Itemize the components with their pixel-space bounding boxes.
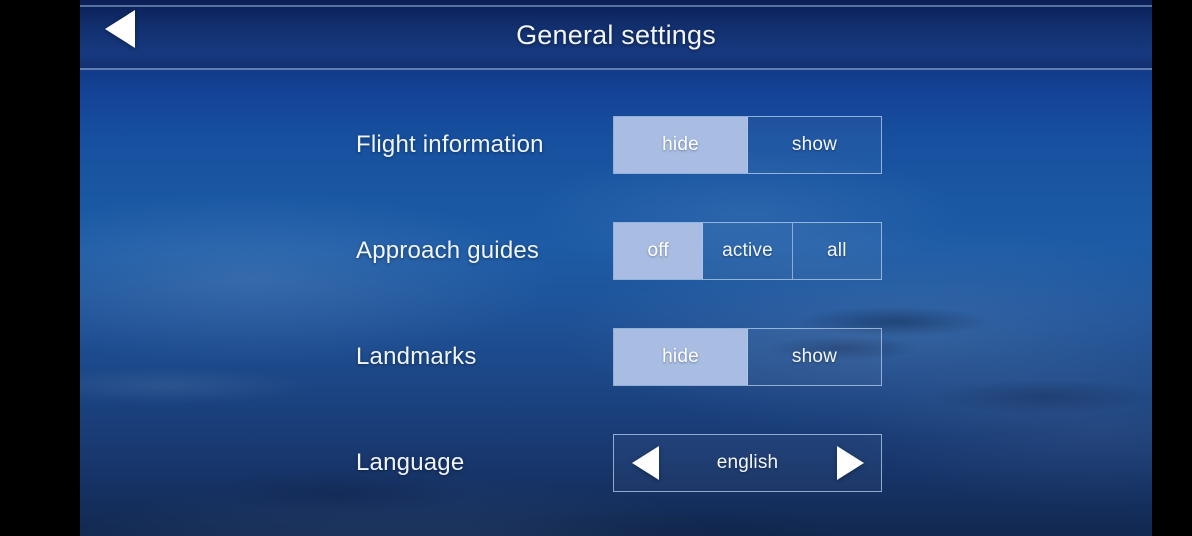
segment-approach-guides-all[interactable]: all (793, 223, 881, 279)
setting-row-flight-information: Flight information hide show (80, 116, 1152, 174)
setting-label-landmarks: Landmarks (356, 328, 477, 386)
language-prev-button[interactable] (614, 435, 676, 491)
setting-label-flight-information: Flight information (356, 116, 544, 174)
segment-landmarks-show[interactable]: show (748, 329, 881, 385)
settings-list: Flight information hide show Approach gu… (80, 70, 1152, 536)
language-stepper[interactable]: english (613, 434, 882, 492)
segment-landmarks-hide[interactable]: hide (614, 329, 748, 385)
segment-approach-guides-off[interactable]: off (614, 223, 703, 279)
setting-row-language: Language english (80, 434, 1152, 492)
segmented-control-flight-information[interactable]: hide show (613, 116, 882, 174)
segment-flight-information-hide[interactable]: hide (614, 117, 748, 173)
segment-approach-guides-active[interactable]: active (703, 223, 792, 279)
triangle-right-icon (837, 446, 864, 480)
segment-flight-information-show[interactable]: show (748, 117, 881, 173)
segmented-control-approach-guides[interactable]: off active all (613, 222, 882, 280)
setting-row-approach-guides: Approach guides off active all (80, 222, 1152, 280)
segmented-control-landmarks[interactable]: hide show (613, 328, 882, 386)
language-value: english (676, 452, 819, 474)
setting-row-landmarks: Landmarks hide show (80, 328, 1152, 386)
page-title: General settings (80, 0, 1152, 70)
letterbox-right (1152, 0, 1192, 536)
app-viewport: General settings Flight information hide… (80, 0, 1152, 536)
triangle-left-icon (105, 10, 135, 48)
language-next-button[interactable] (819, 435, 881, 491)
header-bar: General settings (80, 0, 1152, 70)
ife-general-settings-screen: General settings Flight information hide… (0, 0, 1192, 536)
triangle-left-icon (632, 446, 659, 480)
back-button[interactable] (105, 10, 171, 60)
setting-label-language: Language (356, 434, 464, 492)
setting-label-approach-guides: Approach guides (356, 222, 539, 280)
letterbox-left (0, 0, 80, 536)
